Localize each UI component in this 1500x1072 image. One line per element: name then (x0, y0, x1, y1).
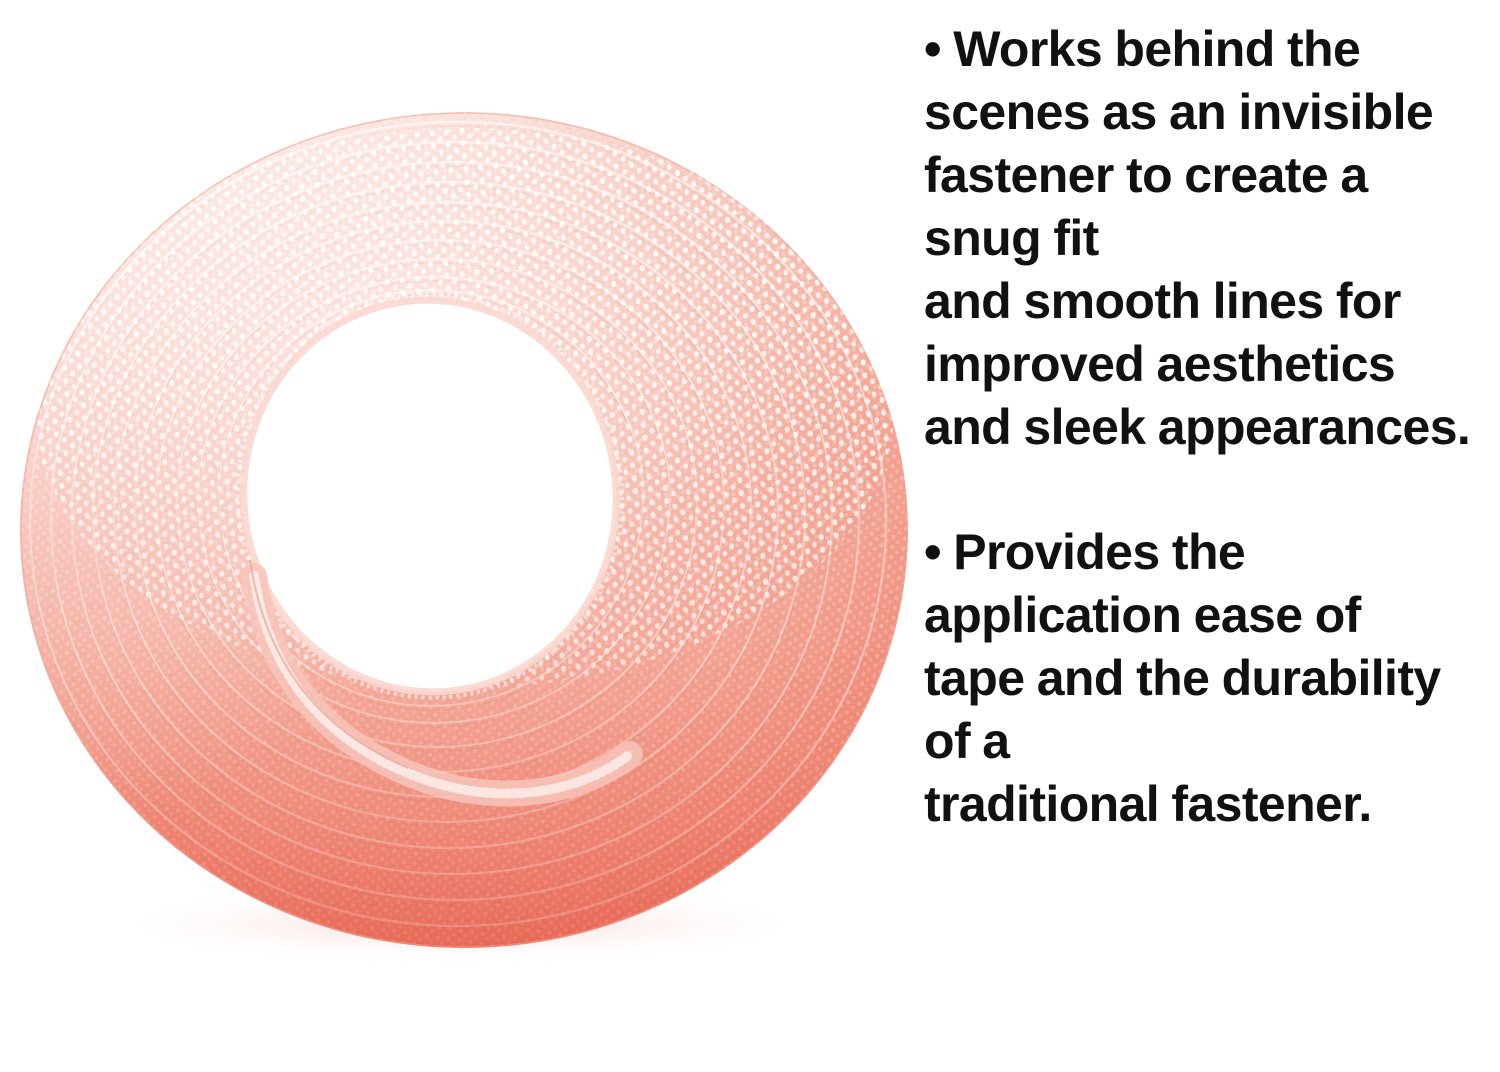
product-feature-image: • Works behind the scenes as an invisibl… (0, 0, 1500, 1072)
product-photo-panel (0, 0, 920, 1072)
paragraph-spacer (920, 459, 1500, 521)
hook-and-loop-tape-coil (18, 108, 910, 952)
feature-text-panel: • Works behind the scenes as an invisibl… (920, 0, 1500, 1072)
coil-illustration (18, 108, 910, 952)
coil-highlight (20, 112, 908, 948)
feature-bullet-2: • Provides the application ease of tape … (920, 521, 1500, 836)
feature-bullet-1: • Works behind the scenes as an invisibl… (920, 18, 1500, 459)
